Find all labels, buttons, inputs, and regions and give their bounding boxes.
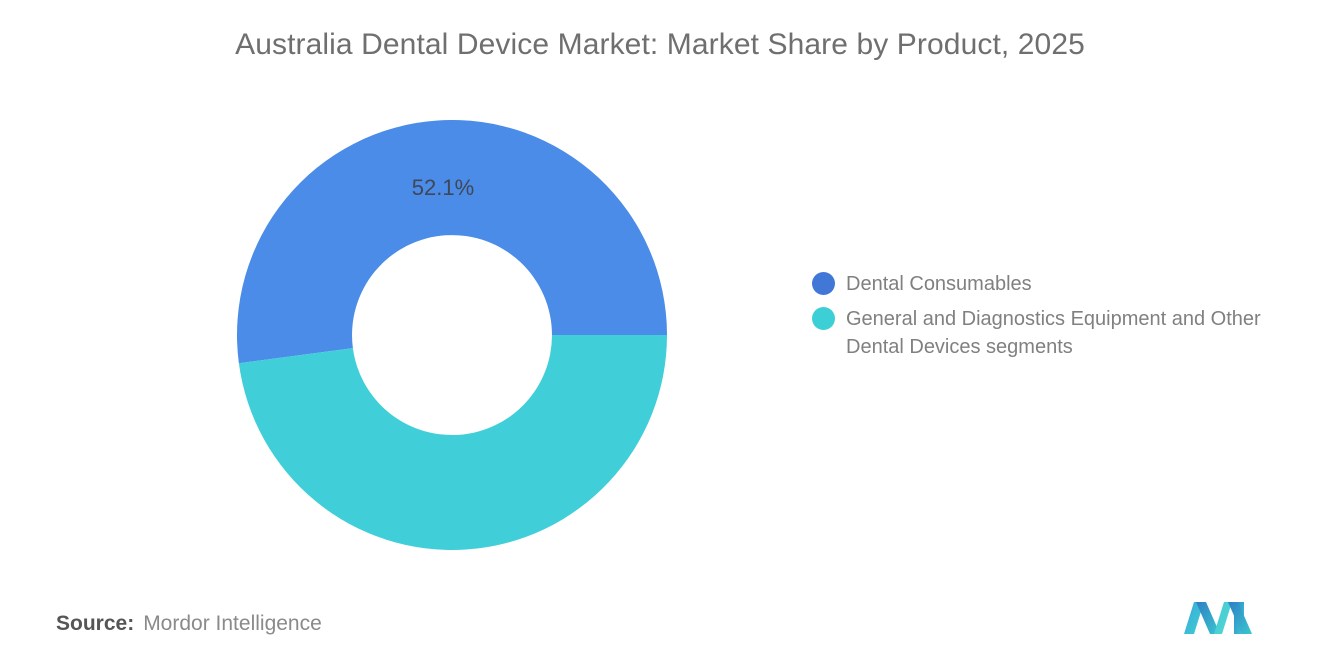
legend-item-label: General and Diagnostics Equipment and Ot… <box>846 305 1266 361</box>
pie-slice-general-diagnostics[interactable] <box>239 335 667 550</box>
legend-item-dental-consumables[interactable]: Dental Consumables <box>812 270 1282 298</box>
circle-swatch-icon <box>812 272 835 295</box>
legend-item-general-diagnostics[interactable]: General and Diagnostics Equipment and Ot… <box>812 305 1282 361</box>
source-label: Source: <box>56 612 134 636</box>
page-title: Australia Dental Device Market: Market S… <box>0 28 1320 62</box>
pie-slice-dental-consumables[interactable] <box>237 120 667 363</box>
donut-chart <box>237 120 667 550</box>
source-value: Mordor Intelligence <box>143 612 322 636</box>
legend-item-label: Dental Consumables <box>846 270 1032 298</box>
chart-legend: Dental Consumables General and Diagnosti… <box>812 270 1282 368</box>
donut-chart-svg <box>237 120 667 550</box>
source-attribution: Source: Mordor Intelligence <box>56 612 322 636</box>
mordor-intelligence-logo <box>1182 598 1254 638</box>
circle-swatch-icon <box>812 307 835 330</box>
logo-stroke-5 <box>1228 602 1252 634</box>
logo-stroke-3 <box>1214 602 1232 634</box>
